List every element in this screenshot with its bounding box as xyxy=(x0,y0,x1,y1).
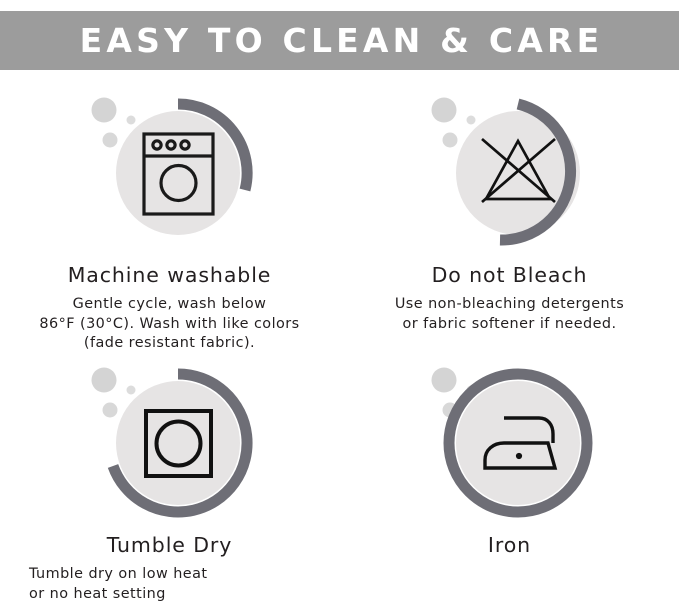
tumble-dry-square-icon xyxy=(82,354,272,534)
header-banner: EASY TO CLEAN & CARE xyxy=(0,11,679,70)
card-title: Do not Bleach xyxy=(340,263,679,287)
iron-heat-dot-icon xyxy=(515,453,521,459)
body-line: Tumble dry on low heat xyxy=(29,565,310,585)
care-instructions-grid: Machine washable Gentle cycle, wash belo… xyxy=(0,80,679,594)
body-line: 86°F (30°C). Wash with like colors xyxy=(0,315,339,335)
card-body: Gentle cycle, wash below 86°F (30°C). Wa… xyxy=(0,295,339,354)
card-title: Iron xyxy=(340,533,679,557)
bubble-tiny-icon xyxy=(126,116,135,125)
care-card-iron: Iron xyxy=(340,350,679,607)
care-card-tumble-dry: Tumble Dry Tumble dry on low heat or no … xyxy=(0,350,339,607)
card-title: Tumble Dry xyxy=(0,533,339,557)
icon-backdrop-circle xyxy=(116,381,240,505)
tumble-dry-icon-stage xyxy=(82,354,272,534)
card-body: Use non-bleaching detergents or fabric s… xyxy=(340,295,679,334)
bubble-tiny-icon xyxy=(466,116,475,125)
iron-icon-stage xyxy=(422,354,612,534)
no-bleach-triangle-icon xyxy=(422,84,612,264)
do-not-bleach-icon-stage xyxy=(422,84,612,264)
bubble-large-icon xyxy=(431,98,456,123)
bubble-large-icon xyxy=(91,98,116,123)
bubble-tiny-icon xyxy=(126,386,135,395)
card-body: Tumble dry on low heat or no heat settin… xyxy=(0,565,310,604)
bubble-medium-icon xyxy=(442,133,457,148)
icon-backdrop-circle xyxy=(116,111,240,235)
body-line: or no heat setting xyxy=(29,585,310,605)
bubble-medium-icon xyxy=(102,403,117,418)
page-title: EASY TO CLEAN & CARE xyxy=(76,24,604,57)
body-line: or fabric softener if needed. xyxy=(340,315,679,335)
iron-icon xyxy=(422,354,612,534)
bubble-large-icon xyxy=(431,368,456,393)
washing-machine-icon xyxy=(82,84,272,264)
bubble-medium-icon xyxy=(102,133,117,148)
care-card-machine-washable: Machine washable Gentle cycle, wash belo… xyxy=(0,80,339,337)
bubble-large-icon xyxy=(91,368,116,393)
body-line: Gentle cycle, wash below xyxy=(0,295,339,315)
card-title: Machine washable xyxy=(0,263,339,287)
body-line: Use non-bleaching detergents xyxy=(340,295,679,315)
machine-washable-icon-stage xyxy=(82,84,272,264)
care-card-do-not-bleach: Do not Bleach Use non-bleaching detergen… xyxy=(340,80,679,337)
